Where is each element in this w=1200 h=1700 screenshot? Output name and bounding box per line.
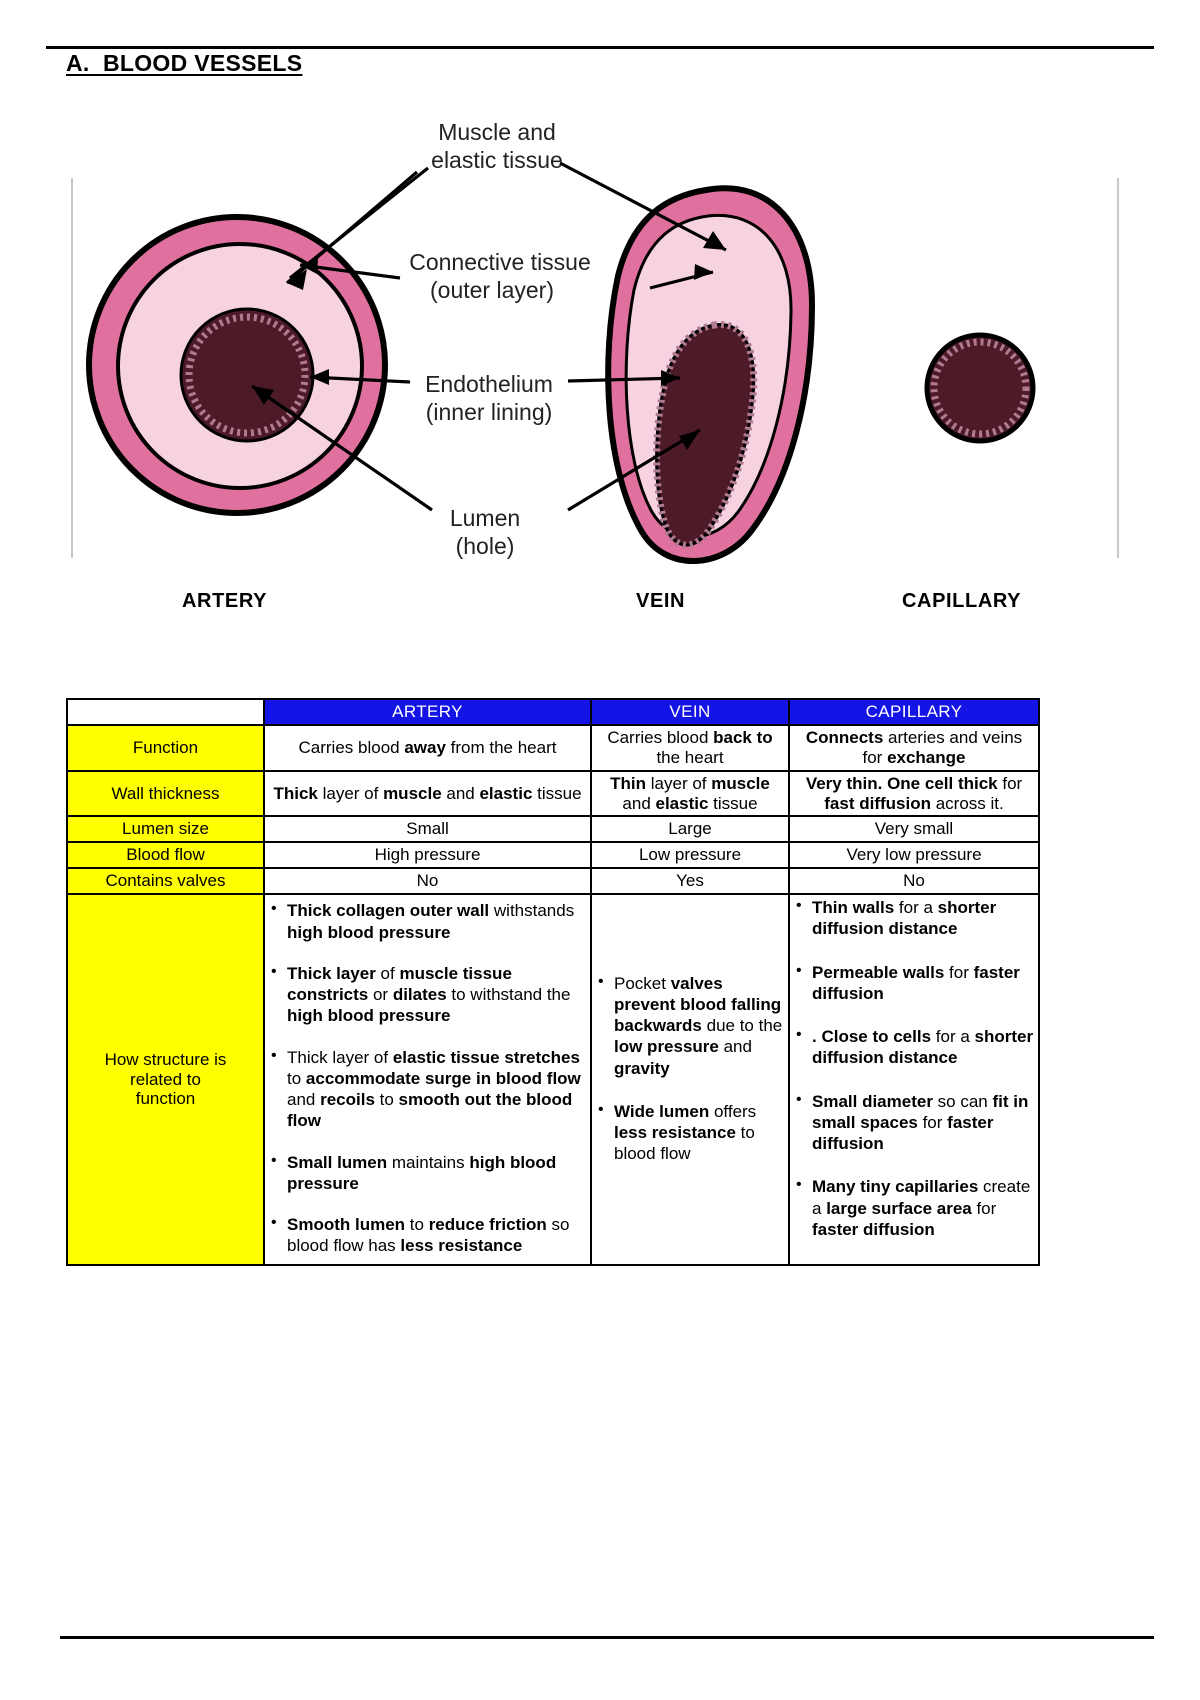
table-row: FunctionCarries blood away from the hear… [67,725,1039,771]
cell-artery: Small [264,816,591,842]
row-label: Lumen size [67,816,264,842]
header-capillary: CAPILLARY [789,699,1039,725]
bullet-item: Smooth lumen to reduce friction so blood… [269,1214,586,1257]
header-vein: VEIN [591,699,789,725]
cell-artery: Thick layer of muscle and elastic tissue [264,771,591,817]
cell-capillary: Very low pressure [789,842,1039,868]
header-blank-cell [67,699,264,725]
bullet-item: Thick layer of elastic tissue stretches … [269,1047,586,1132]
cell-capillary: No [789,868,1039,894]
header-artery: ARTERY [264,699,591,725]
label-connective-line2: (outer layer) [430,277,554,303]
bullet-list: Thin walls for a shorter diffusion dista… [794,897,1034,1240]
row-label: Contains valves [67,868,264,894]
bullet-item: Many tiny capillaries create a large sur… [794,1176,1034,1240]
top-divider-rule [46,46,1154,49]
bullet-list: Thick collagen outer wall withstands hig… [269,900,586,1256]
table-row: Wall thicknessThick layer of muscle and … [67,771,1039,817]
blood-vessel-diagram: Muscle and elastic tissue Connective tis… [0,100,1200,580]
cell-vein: Low pressure [591,842,789,868]
bullet-list: Pocket valves prevent blood falling back… [596,973,784,1165]
bullet-item: Small lumen maintains high blood pressur… [269,1152,586,1195]
cell-vein: Thin layer of muscle and elastic tissue [591,771,789,817]
label-connective-line1: Connective tissue [409,249,591,275]
table-row: Lumen sizeSmallLargeVery small [67,816,1039,842]
comparison-table-wrapper: ARTERY VEIN CAPILLARY FunctionCarries bl… [66,698,1040,1266]
bullet-cell-cap: Thin walls for a shorter diffusion dista… [789,894,1039,1265]
vessel-name-artery: ARTERY [182,590,267,613]
cell-artery: Carries blood away from the heart [264,725,591,771]
artery-cross-section [89,217,385,513]
label-muscle-elastic-line1: Muscle and [438,119,556,145]
cell-vein: Carries blood back to the heart [591,725,789,771]
bullet-item: Pocket valves prevent blood falling back… [596,973,784,1079]
row-label: Function [67,725,264,771]
label-lumen-line2: (hole) [456,533,515,559]
structure-function-row: How structure isrelated tofunctionThick … [67,894,1039,1265]
blood-vessel-comparison-table: ARTERY VEIN CAPILLARY FunctionCarries bl… [66,698,1040,1266]
cell-capillary: Connects arteries and veins for exchange [789,725,1039,771]
label-endothelium-line1: Endothelium [425,371,553,397]
cell-vein: Large [591,816,789,842]
bullet-item: Wide lumen offers less resistance to blo… [596,1101,784,1165]
bullet-cell-vein: Pocket valves prevent blood falling back… [591,894,789,1265]
bullet-item: Thick collagen outer wall withstands hig… [269,900,586,943]
cell-capillary: Very small [789,816,1039,842]
bullet-item: Permeable walls for faster diffusion [794,962,1034,1005]
label-muscle-elastic-line2: elastic tissue [431,147,563,173]
bullet-item: Small diameter so can fit in small space… [794,1091,1034,1155]
cell-artery: No [264,868,591,894]
cell-vein: Yes [591,868,789,894]
bullet-item: Thin walls for a shorter diffusion dista… [794,897,1034,940]
capillary-cross-section [927,335,1033,441]
label-lumen-line1: Lumen [450,505,520,531]
row-label: Wall thickness [67,771,264,817]
table-body: ARTERY VEIN CAPILLARY FunctionCarries bl… [67,699,1039,1265]
table-row: Blood flowHigh pressureLow pressureVery … [67,842,1039,868]
label-endothelium-line2: (inner lining) [426,399,553,425]
vessel-name-row: ARTERY VEIN CAPILLARY [0,590,1200,630]
bullet-cell-art: Thick collagen outer wall withstands hig… [264,894,591,1265]
vessel-name-vein: VEIN [636,590,685,613]
cell-capillary: Very thin. One cell thick for fast diffu… [789,771,1039,817]
bullet-item: . Close to cells for a shorter diffusion… [794,1026,1034,1069]
table-row: Contains valvesNoYesNo [67,868,1039,894]
page-title: A. BLOOD VESSELS [66,50,302,77]
row-label: Blood flow [67,842,264,868]
bottom-divider-rule [60,1636,1154,1639]
row-label-structure-function: How structure isrelated tofunction [67,894,264,1265]
vessel-name-capillary: CAPILLARY [902,590,1021,613]
cell-artery: High pressure [264,842,591,868]
bullet-item: Thick layer of muscle tissue constricts … [269,963,586,1027]
document-page: A. BLOOD VESSELS [0,0,1200,1700]
table-header-row: ARTERY VEIN CAPILLARY [67,699,1039,725]
